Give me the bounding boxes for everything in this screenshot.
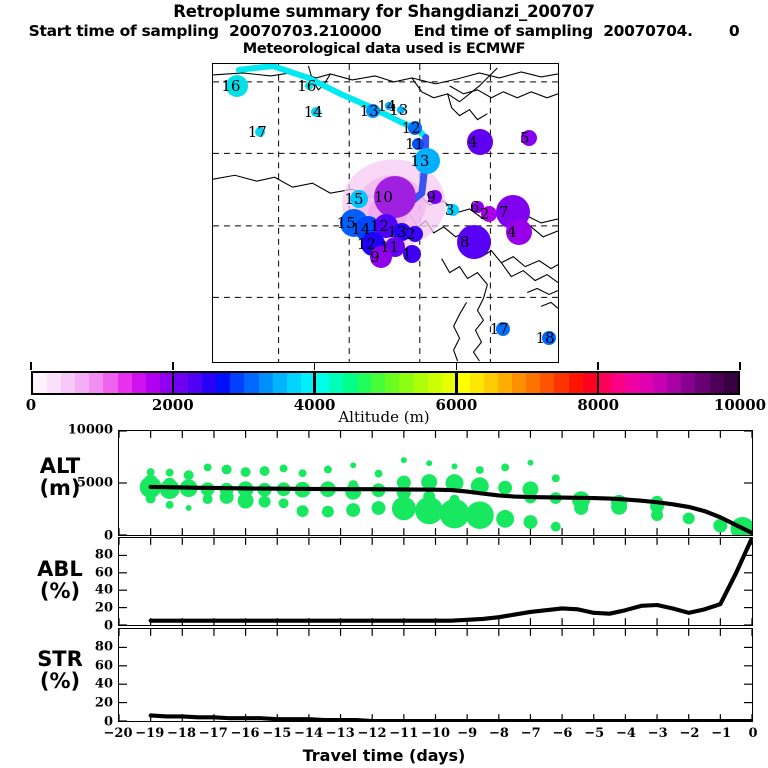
- y-tick-label: 60: [95, 565, 113, 580]
- plume-marker[interactable]: [226, 75, 248, 97]
- x-tick-label: −2: [680, 726, 700, 741]
- x-tick-label: −11: [389, 726, 418, 741]
- x-tick-label: −10: [421, 726, 450, 741]
- alt-scatter-point: [184, 470, 194, 480]
- alt-scatter-point: [322, 506, 334, 518]
- colorbar-tick: [30, 362, 32, 370]
- colorbar-band-47: [695, 373, 709, 393]
- colorbar-separator: [313, 371, 316, 395]
- alt-scatter-point: [466, 502, 494, 529]
- colorbar-band-35: [526, 373, 540, 393]
- y-tick-label: 0: [104, 529, 113, 544]
- x-tick-label: −12: [358, 726, 387, 741]
- x-tick-label: −17: [199, 726, 228, 741]
- colorbar-band-10: [174, 373, 188, 393]
- colorbar-tick: [597, 362, 599, 370]
- alt-scatter-point: [476, 466, 484, 474]
- colorbar-band-49: [724, 373, 738, 393]
- x-tick-label: −4: [616, 726, 636, 741]
- xaxis-title: Travel time (days): [0, 746, 768, 765]
- title-block: Retroplume summary for Shangdianzi_20070…: [0, 0, 768, 58]
- y-tick-label: 80: [95, 639, 113, 654]
- plume-marker[interactable]: [457, 225, 491, 259]
- colorbar-band-48: [710, 373, 724, 393]
- colorbar-band-0: [33, 373, 47, 393]
- colorbar-tick: [172, 362, 174, 370]
- x-tick-label: −19: [135, 726, 164, 741]
- x-tick-label: −3: [648, 726, 668, 741]
- plume-marker[interactable]: [350, 190, 368, 208]
- x-tick-label: −1: [711, 726, 731, 741]
- alt-scatter-point: [651, 509, 663, 521]
- alt-scatter-point: [501, 463, 509, 471]
- colorbar-band-1: [47, 373, 61, 393]
- plume-marker[interactable]: [385, 102, 393, 110]
- abl-plot: [119, 538, 752, 625]
- colorbar-band-3: [75, 373, 89, 393]
- alt-panel[interactable]: [118, 430, 753, 536]
- colorbar-band-5: [103, 373, 117, 393]
- x-tick-label: −5: [584, 726, 604, 741]
- x-tick-label: −15: [262, 726, 291, 741]
- plume-marker[interactable]: [521, 130, 537, 146]
- plume-marker[interactable]: [255, 127, 265, 137]
- alt-scatter-point: [496, 510, 514, 528]
- y-tick-label: 0: [104, 619, 113, 634]
- colorbar-band-34: [512, 373, 526, 393]
- colorbar-band-23: [357, 373, 371, 393]
- colorbar-separator: [597, 371, 600, 395]
- colorbar-band-26: [399, 373, 413, 393]
- x-tick-label: −8: [489, 726, 509, 741]
- colorbar-band-45: [667, 373, 681, 393]
- y-tick-label: 20: [95, 696, 113, 711]
- y-tick-label: 40: [95, 677, 113, 692]
- plume-marker[interactable]: [305, 82, 313, 90]
- x-tick-label: −16: [231, 726, 260, 741]
- colorbar-band-8: [146, 373, 160, 393]
- colorbar-band-15: [244, 373, 258, 393]
- alt-scatter-point: [551, 522, 561, 532]
- colorbar-band-11: [188, 373, 202, 393]
- x-tick-label: −9: [457, 726, 477, 741]
- x-tick-label: −14: [294, 726, 323, 741]
- alt-scatter-point: [280, 465, 288, 473]
- colorbar-band-17: [273, 373, 287, 393]
- alt-scatter-point: [345, 484, 361, 500]
- alt-label-line1: ALT: [8, 455, 112, 477]
- gridticks: [119, 538, 752, 625]
- alt-scatter-point: [238, 493, 254, 509]
- colorbar-gradient: [31, 371, 740, 395]
- colorbar-band-20: [315, 373, 329, 393]
- x-tick-label: −13: [326, 726, 355, 741]
- alt-scatter-point: [527, 460, 533, 466]
- colorbar-band-27: [414, 373, 428, 393]
- retroplume-map[interactable]: 1617161413141312111345936274151015141213…: [212, 63, 559, 363]
- alt-scatter-point: [324, 466, 332, 474]
- str-panel[interactable]: [118, 628, 753, 722]
- str-plot: [119, 629, 752, 721]
- alt-scatter-point: [440, 499, 470, 528]
- end-time-value: 20070704.: [603, 22, 692, 40]
- alt-scatter-point: [683, 512, 695, 524]
- alt-scatter-point: [222, 465, 232, 475]
- start-time-label: Start time of sampling: [29, 22, 219, 40]
- y-tick-label: 40: [95, 583, 113, 598]
- x-tick-label: −6: [553, 726, 573, 741]
- alt-scatter-point: [299, 469, 307, 477]
- colorbar-band-13: [216, 373, 230, 393]
- colorbar-band-37: [554, 373, 568, 393]
- alt-scatter-point: [260, 466, 270, 476]
- x-tick-label: −20: [104, 726, 133, 741]
- plume-marker[interactable]: [414, 148, 440, 174]
- centroid-trajectory: [239, 66, 426, 138]
- altitude-colorbar[interactable]: [31, 371, 740, 395]
- colorbar-band-31: [470, 373, 484, 393]
- colorbar-band-32: [484, 373, 498, 393]
- plume-marker[interactable]: [496, 322, 510, 336]
- plume-marker[interactable]: [397, 106, 405, 114]
- plume-marker[interactable]: [481, 206, 497, 222]
- alt-scatter-point: [346, 503, 360, 517]
- plume-marker[interactable]: [447, 204, 459, 216]
- colorbar-band-24: [371, 373, 385, 393]
- alt-scatter-point: [241, 467, 251, 477]
- end-time-extra: 0: [729, 22, 740, 40]
- colorbar-band-39: [583, 373, 597, 393]
- page-title: Retroplume summary for Shangdianzi_20070…: [0, 0, 768, 22]
- plume-marker[interactable]: [374, 176, 416, 218]
- plume-marker[interactable]: [370, 246, 392, 268]
- colorbar-tick: [456, 362, 458, 370]
- met-data-line: Meteorological data used is ECMWF: [0, 41, 768, 58]
- alt-scatter-point: [297, 505, 309, 517]
- sampling-time-line: Start time of sampling 20070703.210000 E…: [0, 22, 768, 41]
- colorbar-band-22: [343, 373, 357, 393]
- plume-marker[interactable]: [467, 129, 493, 155]
- alt-scatter-point: [375, 470, 383, 478]
- alt-scatter: [140, 457, 752, 535]
- alt-scatter-point: [186, 505, 192, 511]
- plume-marker[interactable]: [366, 104, 380, 118]
- alt-scatter-point: [146, 494, 156, 504]
- alt-scatter-point: [421, 474, 437, 490]
- colorbar-tick: [739, 362, 741, 370]
- alt-scatter-point: [372, 501, 386, 515]
- colorbar-separator: [172, 371, 175, 395]
- colorbar-band-4: [89, 373, 103, 393]
- plume-marker[interactable]: [403, 245, 421, 263]
- colorbar-band-30: [456, 373, 470, 393]
- colorbar-band-12: [202, 373, 216, 393]
- alt-scatter-point: [392, 497, 416, 521]
- colorbar-title: Altitude (m): [0, 408, 768, 426]
- alt-scatter-point: [279, 498, 289, 508]
- alt-scatter-point: [350, 462, 356, 468]
- colorbar-band-14: [230, 373, 244, 393]
- colorbar-band-21: [329, 373, 343, 393]
- alt-scatter-point: [203, 494, 213, 504]
- x-tick-label: −18: [167, 726, 196, 741]
- end-time-label: End time of sampling: [414, 22, 593, 40]
- alt-scatter-point: [166, 469, 174, 477]
- colorbar-tick: [314, 362, 316, 370]
- plume-marker[interactable]: [311, 107, 321, 117]
- x-tick-label: −7: [521, 726, 541, 741]
- colorbar-separator: [455, 371, 458, 395]
- alt-scatter-point: [204, 463, 212, 471]
- colorbar-band-6: [118, 373, 132, 393]
- plume-marker[interactable]: [407, 226, 423, 242]
- plume-marker[interactable]: [428, 190, 442, 204]
- series-line: [151, 538, 752, 621]
- plume-marker[interactable]: [408, 121, 422, 135]
- alt-scatter-point: [166, 501, 174, 509]
- y-tick-label: 20: [95, 601, 113, 616]
- alt-scatter-point: [259, 496, 271, 508]
- colorbar-band-7: [132, 373, 146, 393]
- alt-scatter-point: [498, 481, 512, 495]
- colorbar-band-2: [61, 373, 75, 393]
- colorbar-band-44: [653, 373, 667, 393]
- alt-scatter-point: [552, 474, 560, 482]
- plume-marker[interactable]: [506, 219, 532, 245]
- colorbar-band-43: [639, 373, 653, 393]
- plume-marker[interactable]: [542, 331, 556, 345]
- colorbar-band-25: [385, 373, 399, 393]
- colorbar-band-28: [428, 373, 442, 393]
- y-tick-label: 80: [95, 547, 113, 562]
- colorbar-band-41: [611, 373, 625, 393]
- colorbar-band-36: [540, 373, 554, 393]
- alt-scatter-point: [426, 460, 432, 466]
- alt-scatter-point: [220, 490, 234, 504]
- x-tick-label: 0: [748, 726, 757, 741]
- start-time-value: 20070703.210000: [229, 22, 381, 40]
- gridticks: [119, 629, 752, 721]
- alt-scatter-point: [574, 501, 588, 515]
- colorbar-band-18: [287, 373, 301, 393]
- colorbar-band-33: [498, 373, 512, 393]
- y-tick-label: 5000: [77, 476, 113, 491]
- y-tick-label: 10000: [68, 423, 113, 438]
- colorbar-band-29: [442, 373, 456, 393]
- colorbar-band-46: [681, 373, 695, 393]
- alt-scatter-point: [523, 515, 537, 529]
- colorbar-band-38: [569, 373, 583, 393]
- y-tick-label: 60: [95, 658, 113, 673]
- alt-scatter-point: [451, 463, 457, 469]
- abl-panel[interactable]: [118, 537, 753, 626]
- colorbar-band-42: [625, 373, 639, 393]
- series-line: [151, 715, 752, 721]
- alt-scatter-point: [415, 497, 443, 524]
- colorbar-band-16: [259, 373, 273, 393]
- alt-scatter-point: [401, 457, 407, 463]
- alt-plot: [119, 431, 752, 535]
